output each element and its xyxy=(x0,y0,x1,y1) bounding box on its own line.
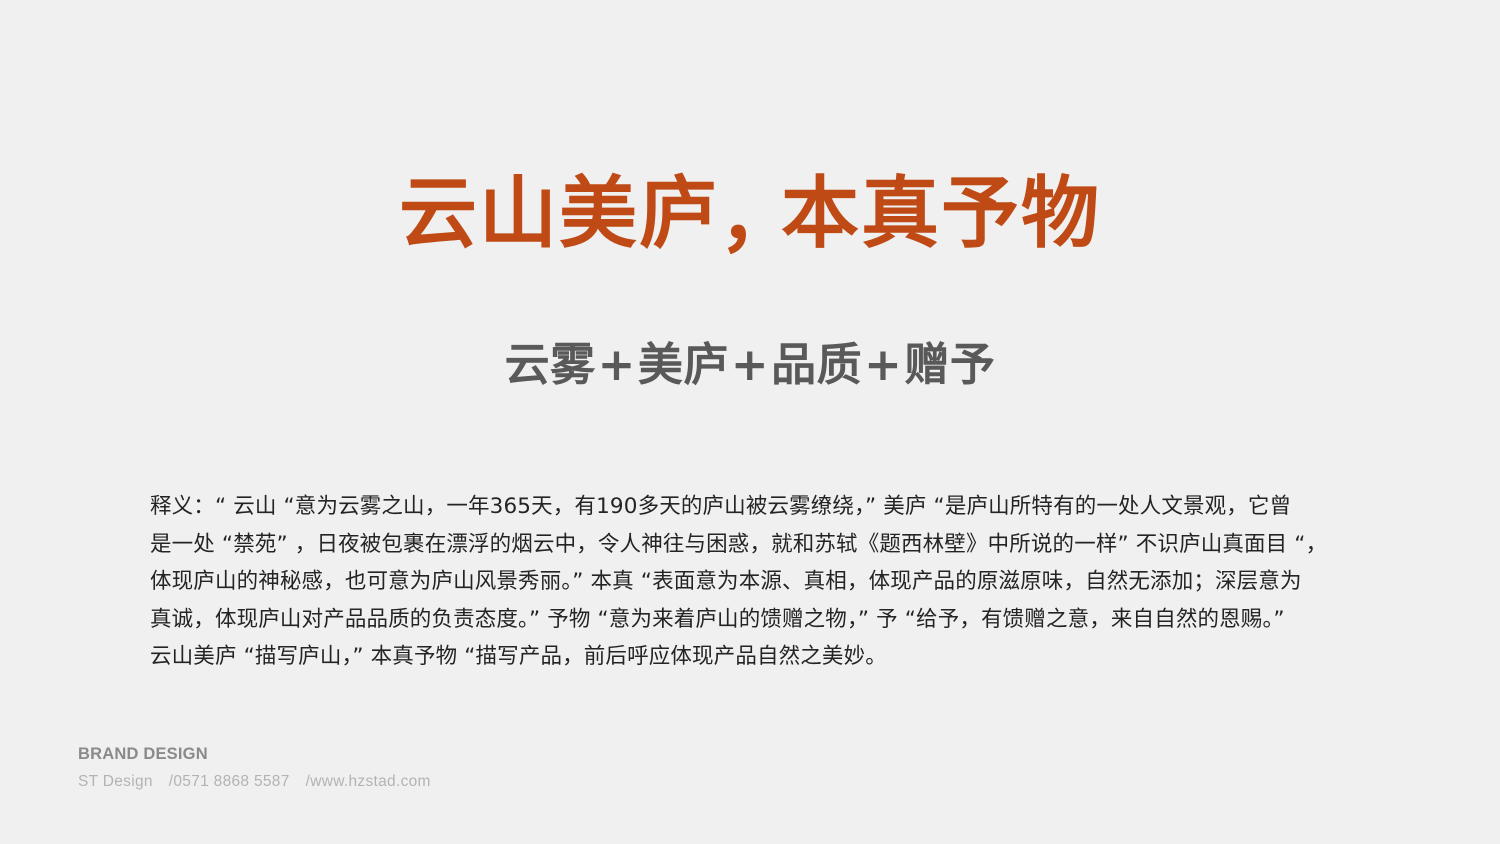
slide-canvas: 云山美庐，本真予物 云雾+美庐+品质+赠予 释义：“ 云山 “意为云雾之山，一年… xyxy=(0,0,1500,844)
paragraph-line: 是一处 “禁苑” ，日夜被包裹在漂浮的烟云中，令人神往与困惑，就和苏轼《题西林壁… xyxy=(150,526,1352,564)
page-title: 云山美庐，本真予物 xyxy=(0,172,1500,256)
headline-part-1: 云山美庐 xyxy=(399,169,719,259)
subtitle-plus-2: + xyxy=(729,340,771,390)
paragraph-line: 体现庐山的神秘感，也可意为庐山风景秀丽。” 本真 “表面意为本源、真相，体现产品… xyxy=(150,563,1352,601)
headline-part-2: 本真予物 xyxy=(781,169,1101,259)
footer-contact-line: ST Design /0571 8868 5587 /www.hzstad.co… xyxy=(78,772,431,792)
subtitle-plus-3: + xyxy=(862,340,904,390)
footer-brand-label: BRAND DESIGN xyxy=(78,744,431,765)
subtitle-plus-1: + xyxy=(596,340,638,390)
paragraph-line: 云山美庐 “描写庐山，” 本真予物 “描写产品，前后呼应体现产品自然之美妙。 xyxy=(150,638,1352,676)
paragraph-line: 真诚，体现庐山对产品品质的负责态度。” 予物 “意为来着庐山的馈赠之物，” 予 … xyxy=(150,601,1352,639)
footer-spacer xyxy=(153,772,169,792)
footer-studio-name: ST Design xyxy=(78,772,153,792)
subtitle-segment-1: 云雾 xyxy=(505,338,596,391)
subtitle-segment-2: 美庐 xyxy=(638,338,729,391)
footer-spacer xyxy=(290,772,306,792)
page-subtitle: 云雾+美庐+品质+赠予 xyxy=(0,340,1500,390)
footer: BRAND DESIGN ST Design /0571 8868 5587 /… xyxy=(78,744,431,792)
subtitle-segment-4: 赠予 xyxy=(904,338,995,391)
definition-paragraph: 释义：“ 云山 “意为云雾之山，一年365天，有190多天的庐山被云雾缭绕，” … xyxy=(150,488,1352,676)
paragraph-line: 释义：“ 云山 “意为云雾之山，一年365天，有190多天的庐山被云雾缭绕，” … xyxy=(150,488,1352,526)
footer-phone: /0571 8868 5587 xyxy=(169,772,290,792)
subtitle-segment-3: 品质 xyxy=(771,338,862,391)
footer-website[interactable]: /www.hzstad.com xyxy=(306,772,431,792)
headline-comma: ， xyxy=(719,176,781,260)
